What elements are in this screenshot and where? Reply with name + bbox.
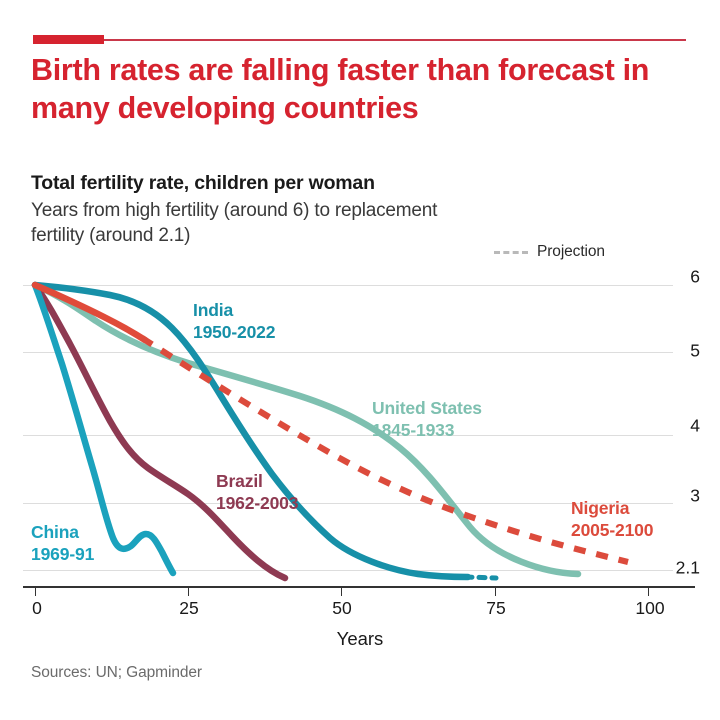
infographic-page: Birth rates are falling faster than fore… xyxy=(0,0,720,720)
series-projection-india xyxy=(466,577,496,578)
chart-lines xyxy=(0,0,720,720)
x-axis-title: Years xyxy=(0,628,720,650)
x-axis-label-0: 0 xyxy=(32,598,42,619)
x-tick-50 xyxy=(341,587,342,596)
x-tick-100 xyxy=(648,587,649,596)
x-axis-line xyxy=(23,586,695,588)
series-label-nigeria: Nigeria 2005-2100 xyxy=(571,498,653,541)
series-label-china: China 1969-91 xyxy=(31,522,94,565)
x-tick-75 xyxy=(495,587,496,596)
x-tick-0 xyxy=(35,587,36,596)
x-axis-label-100: 100 xyxy=(635,598,664,619)
chart-plot-area: 6 5 4 3 2.1 0 25 xyxy=(0,0,720,720)
sources-note: Sources: UN; Gapminder xyxy=(31,664,202,682)
x-axis-label-75: 75 xyxy=(486,598,505,619)
x-axis-label-25: 25 xyxy=(179,598,198,619)
series-label-india: India 1950-2022 xyxy=(193,300,275,343)
series-label-united-states: United States 1845-1933 xyxy=(372,398,482,441)
x-axis-label-50: 50 xyxy=(332,598,351,619)
series-label-brazil: Brazil 1962-2003 xyxy=(216,471,298,514)
x-tick-25 xyxy=(188,587,189,596)
